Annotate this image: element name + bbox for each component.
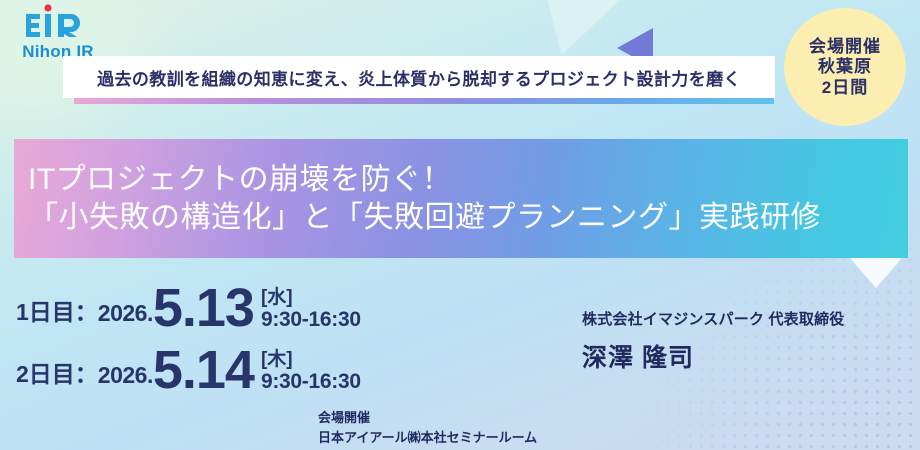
date-label-day1: 1日目：	[16, 293, 98, 336]
date-year-day2: 2026.	[98, 362, 153, 398]
dates-block: 1日目： 2026. 5.13 [水] 9:30-16:30 2日目： 2026…	[16, 274, 516, 398]
title-line-2: 「小失敗の構造化」と「失敗回避プランニング」実践研修	[28, 199, 908, 236]
venue-note-line-2: 日本アイアール㈱本社セミナールーム	[318, 428, 537, 448]
date-label-day2: 2日目：	[16, 355, 98, 398]
venue-badge-line-1: 会場開催	[809, 37, 881, 57]
date-monthday-day2: 5.14	[153, 346, 254, 398]
speaker-affiliation: 株式会社イマジンスパーク 代表取締役	[582, 308, 844, 329]
date-dow-day1: [水]	[261, 288, 361, 308]
catch-accent-bar	[74, 97, 774, 104]
logo-dot-icon	[44, 4, 51, 11]
date-row-day2: 2日目： 2026. 5.14 [木] 9:30-16:30	[16, 336, 516, 398]
venue-badge-line-3: 2日間	[822, 78, 868, 98]
date-year-day1: 2026.	[98, 300, 153, 336]
venue-note: 会場開催 日本アイアール㈱本社セミナールーム	[318, 408, 537, 447]
title-line-1: ITプロジェクトの崩壊を防ぐ！	[28, 161, 908, 198]
speaker-name: 深澤 隆司	[582, 338, 844, 374]
date-detail-day1: [水] 9:30-16:30	[254, 288, 361, 336]
date-time-day2: 9:30-16:30	[261, 370, 361, 393]
date-row-day1: 1日目： 2026. 5.13 [水] 9:30-16:30	[16, 274, 516, 336]
nihon-ir-logo[interactable]: Nihon IR	[8, 4, 113, 64]
catch-banner: 過去の教訓を組織の知恵に変え、炎上体質から脱却するプロジェクト設計力を磨く	[63, 56, 775, 98]
venue-badge-line-2: 秋葉原	[818, 57, 872, 77]
date-time-day1: 9:30-16:30	[261, 308, 361, 331]
eir-monogram-icon	[22, 4, 96, 44]
seminar-banner: Nihon IR 過去の教訓を組織の知恵に変え、炎上体質から脱却するプロジェクト…	[0, 0, 920, 450]
white-triangle-icon	[850, 258, 902, 288]
venue-note-line-1: 会場開催	[318, 408, 537, 428]
catch-text: 過去の教訓を組織の知恵に変え、炎上体質から脱却するプロジェクト設計力を磨く	[97, 65, 741, 90]
speaker-block: 株式会社イマジンスパーク 代表取締役 深澤 隆司	[582, 308, 844, 374]
date-detail-day2: [木] 9:30-16:30	[254, 350, 361, 398]
date-dow-day2: [木]	[261, 350, 361, 370]
title-band: ITプロジェクトの崩壊を防ぐ！ 「小失敗の構造化」と「失敗回避プランニング」実践…	[14, 139, 908, 258]
date-monthday-day1: 5.13	[153, 284, 254, 336]
venue-badge: 会場開催 秋葉原 2日間	[784, 8, 906, 126]
